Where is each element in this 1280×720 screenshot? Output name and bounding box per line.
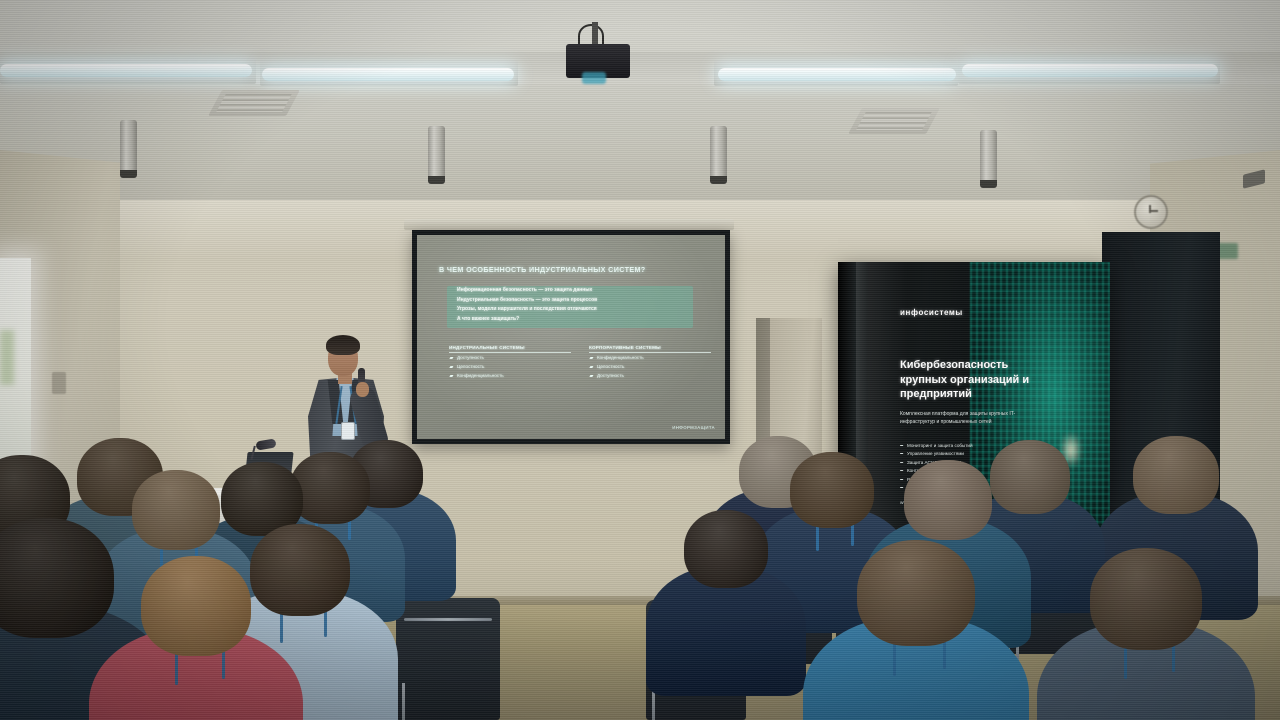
audience bbox=[0, 0, 1280, 720]
chair-leg bbox=[402, 683, 405, 720]
attendee-head bbox=[684, 510, 768, 588]
attendee-head bbox=[1133, 436, 1219, 514]
attendee-head bbox=[857, 540, 975, 646]
attendee-head bbox=[904, 460, 992, 540]
attendee-l8 bbox=[89, 556, 303, 720]
attendee-r8 bbox=[646, 510, 806, 718]
conference-room-photo: В ЧЕМ ОСОБЕННОСТЬ ИНДУСТРИАЛЬНЫХ СИСТЕМ?… bbox=[0, 0, 1280, 720]
attendee-head bbox=[141, 556, 251, 656]
attendee-r6 bbox=[803, 540, 1029, 720]
attendee-head bbox=[1090, 548, 1202, 650]
attendee-r7 bbox=[1037, 548, 1255, 720]
